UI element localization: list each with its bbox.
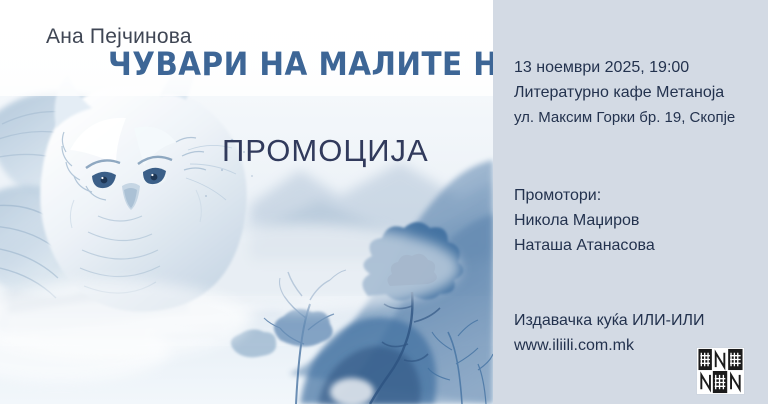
book-title: ЧУВАРИ НА МАЛИТЕ НЕШТА (108, 48, 493, 80)
event-address: ул. Максим Горки бр. 19, Скопје (514, 105, 735, 130)
event-datetime: 13 ноември 2025, 19:00 (514, 55, 735, 80)
promoter-name-2: Наташа Атанасова (514, 233, 655, 258)
event-poster: Ана Пејчинова ЧУВАРИ НА МАЛИТЕ НЕШТА ПРО… (0, 0, 768, 404)
publisher-block: Издавачка куќа ИЛИ-ИЛИ www.iliili.com.mk (514, 308, 704, 358)
ili-ili-publisher-logo (696, 347, 745, 395)
publisher-logo-glyphs (697, 348, 744, 394)
publisher-name: Издавачка куќа ИЛИ-ИЛИ (514, 308, 704, 333)
promoters-heading: Промотори: (514, 183, 655, 208)
event-details: 13 ноември 2025, 19:00 Литературно кафе … (514, 55, 735, 130)
promotion-label: ПРОМОЦИЈА (222, 135, 429, 166)
author-name: Ана Пејчинова (46, 26, 192, 47)
promoters-block: Промотори: Никола Маџиров Наташа Атанасо… (514, 183, 655, 258)
book-cover-artwork: Ана Пејчинова ЧУВАРИ НА МАЛИТЕ НЕШТА ПРО… (0, 0, 493, 404)
event-info-panel: 13 ноември 2025, 19:00 Литературно кафе … (493, 0, 768, 404)
event-venue: Литературно кафе Метаноја (514, 80, 735, 105)
promoter-name-1: Никола Маџиров (514, 208, 655, 233)
publisher-website[interactable]: www.iliili.com.mk (514, 333, 704, 358)
